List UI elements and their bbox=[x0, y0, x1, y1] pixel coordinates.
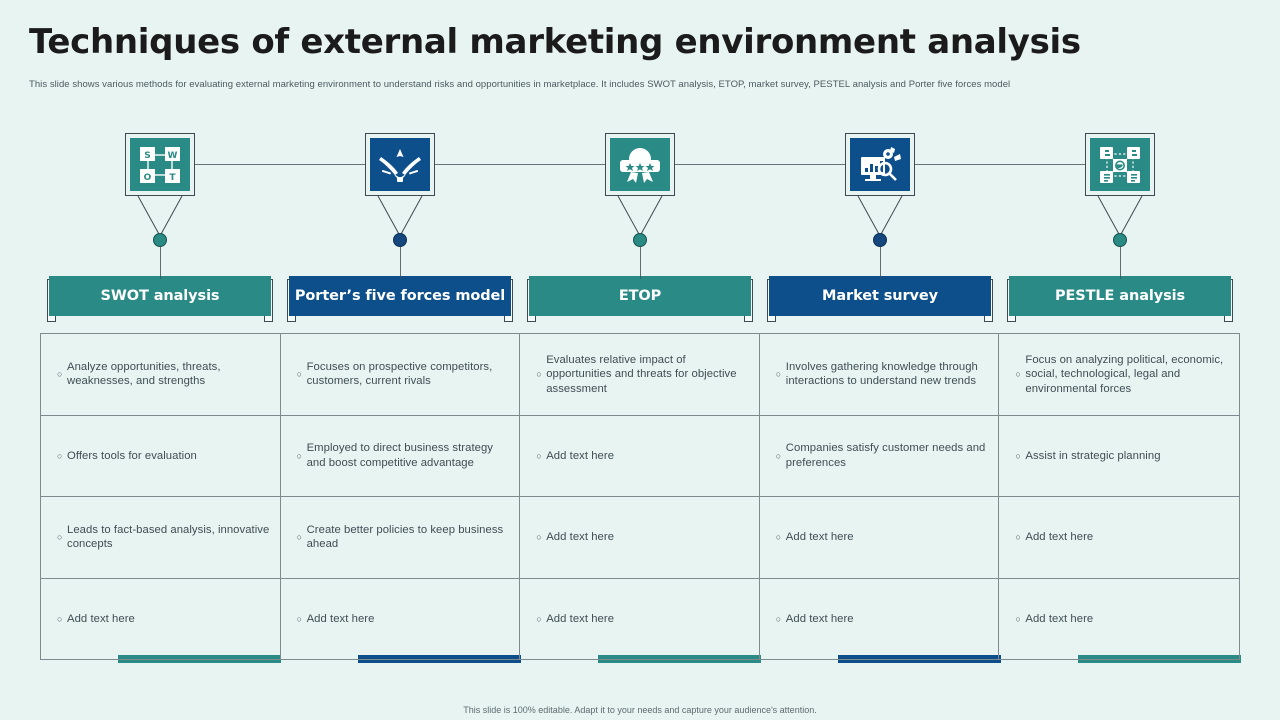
table-cell[interactable]: ○Analyze opportunities, threats, weaknes… bbox=[41, 334, 280, 416]
connector-stem bbox=[1120, 246, 1121, 279]
table-cell-text: Analyze opportunities, threats, weakness… bbox=[67, 360, 270, 389]
table-column-etop: ○Evaluates relative impact of opportunit… bbox=[520, 334, 760, 659]
table-cell-text: Assist in strategic planning bbox=[1025, 449, 1160, 464]
bullet-icon: ○ bbox=[536, 530, 546, 544]
header-bar-label: PESTLE analysis bbox=[1055, 288, 1185, 305]
table-cell[interactable]: ○Focuses on prospective competitors, cus… bbox=[281, 334, 520, 416]
svg-text:T: T bbox=[169, 173, 176, 183]
table-cell[interactable]: ○Add text here bbox=[520, 579, 759, 660]
bullet-icon: ○ bbox=[297, 367, 307, 381]
bullet-icon: ○ bbox=[57, 367, 67, 381]
connector-node-dot bbox=[873, 233, 887, 247]
header-bar-label: Porter’s five forces model bbox=[295, 288, 505, 305]
table-cell-text: Focuses on prospective competitors, cust… bbox=[307, 360, 510, 389]
table-column-market-survey: ○Involves gathering knowledge through in… bbox=[760, 334, 1000, 659]
table-cell[interactable]: ○Companies satisfy customer needs and pr… bbox=[760, 416, 999, 498]
table-cell[interactable]: ○Create better policies to keep business… bbox=[281, 497, 520, 579]
table-cell[interactable]: ○Add text here bbox=[999, 579, 1239, 660]
icon-frame-etop bbox=[605, 133, 675, 196]
svg-text:O: O bbox=[144, 173, 152, 183]
table-cell[interactable]: ○Add text here bbox=[281, 579, 520, 660]
connector-node-dot bbox=[153, 233, 167, 247]
bullet-icon: ○ bbox=[297, 449, 307, 463]
icon-frame-swot: S W O T bbox=[125, 133, 195, 196]
table-cell[interactable]: ○Offers tools for evaluation bbox=[41, 416, 280, 498]
icon-frame-market-survey bbox=[845, 133, 915, 196]
table-cell[interactable]: ○Employed to direct business strategy an… bbox=[281, 416, 520, 498]
award-badge-icon bbox=[610, 138, 670, 191]
connector-stem bbox=[160, 246, 161, 279]
table-cell-text: Add text here bbox=[786, 612, 854, 627]
table-cell[interactable]: ○Add text here bbox=[999, 497, 1239, 579]
connector-node-dot bbox=[1113, 233, 1127, 247]
bullet-icon: ○ bbox=[776, 367, 786, 381]
table-cell-text: Create better policies to keep business … bbox=[307, 523, 510, 552]
techniques-table: ○Analyze opportunities, threats, weaknes… bbox=[40, 333, 1240, 660]
bullet-icon: ○ bbox=[776, 530, 786, 544]
table-cell[interactable]: ○Add text here bbox=[760, 497, 999, 579]
table-cell-text: Add text here bbox=[1025, 530, 1093, 545]
table-cell[interactable]: ○Evaluates relative impact of opportunit… bbox=[520, 334, 759, 416]
icon-frame-porter bbox=[365, 133, 435, 196]
header-bar-etop[interactable]: ETOP bbox=[520, 276, 760, 318]
bullet-icon: ○ bbox=[57, 530, 67, 544]
bullet-icon: ○ bbox=[536, 449, 546, 463]
svg-text:S: S bbox=[144, 151, 150, 161]
table-column-pestle-analysis: ○Focus on analyzing political, economic,… bbox=[999, 334, 1239, 659]
connector-stem bbox=[400, 246, 401, 279]
connector-stem bbox=[640, 246, 641, 279]
connector-node-dot bbox=[393, 233, 407, 247]
connector-stem bbox=[880, 246, 881, 279]
bullet-icon: ○ bbox=[297, 530, 307, 544]
table-cell-text: Add text here bbox=[67, 612, 135, 627]
bullet-icon: ○ bbox=[1015, 530, 1025, 544]
table-cell-text: Add text here bbox=[546, 612, 614, 627]
table-cell[interactable]: ○Add text here bbox=[41, 579, 280, 660]
table-cell-text: Offers tools for evaluation bbox=[67, 449, 197, 464]
connector-node-dot bbox=[633, 233, 647, 247]
table-cell-text: Involves gathering knowledge through int… bbox=[786, 360, 989, 389]
bullet-icon: ○ bbox=[776, 612, 786, 626]
table-cell[interactable]: ○Focus on analyzing political, economic,… bbox=[999, 334, 1239, 416]
table-cell[interactable]: ○Add text here bbox=[520, 497, 759, 579]
header-bar-market-survey[interactable]: Market survey bbox=[760, 276, 1000, 318]
table-cell-text: Employed to direct business strategy and… bbox=[307, 441, 510, 470]
table-cell-text: Companies satisfy customer needs and pre… bbox=[786, 441, 989, 470]
header-bar-label: ETOP bbox=[619, 288, 661, 305]
table-column-porters-five-forces-model: ○Focuses on prospective competitors, cus… bbox=[281, 334, 521, 659]
bullet-icon: ○ bbox=[776, 449, 786, 463]
table-cell[interactable]: ○Involves gathering knowledge through in… bbox=[760, 334, 999, 416]
bullet-icon: ○ bbox=[1015, 367, 1025, 381]
crossed-swords-icon bbox=[370, 138, 430, 191]
table-cell-text: Focus on analyzing political, economic, … bbox=[1025, 353, 1229, 397]
header-bar-porters-five-forces-model[interactable]: Porter’s five forces model bbox=[280, 276, 520, 318]
table-column-swot-analysis: ○Analyze opportunities, threats, weaknes… bbox=[41, 334, 281, 659]
table-cell[interactable]: ○Leads to fact-based analysis, innovativ… bbox=[41, 497, 280, 579]
bullet-icon: ○ bbox=[297, 612, 307, 626]
bullet-icon: ○ bbox=[1015, 612, 1025, 626]
table-cell-text: Add text here bbox=[307, 612, 375, 627]
bullet-icon: ○ bbox=[57, 449, 67, 463]
table-cell[interactable]: ○Add text here bbox=[760, 579, 999, 660]
bullet-icon: ○ bbox=[536, 612, 546, 626]
bullet-icon: ○ bbox=[536, 367, 546, 381]
table-cell-text: Evaluates relative impact of opportuniti… bbox=[546, 353, 749, 397]
global-network-icon bbox=[1090, 138, 1150, 191]
bullet-icon: ○ bbox=[1015, 449, 1025, 463]
table-cell-text: Add text here bbox=[1025, 612, 1093, 627]
header-bar-label: Market survey bbox=[822, 288, 938, 305]
header-bar-swot-analysis[interactable]: SWOT analysis bbox=[40, 276, 280, 318]
table-cell-text: Add text here bbox=[546, 530, 614, 545]
bullet-icon: ○ bbox=[57, 612, 67, 626]
market-research-icon bbox=[850, 138, 910, 191]
header-bar-pestle-analysis[interactable]: PESTLE analysis bbox=[1000, 276, 1240, 318]
icon-frame-pestle bbox=[1085, 133, 1155, 196]
table-cell[interactable]: ○Add text here bbox=[520, 416, 759, 498]
slide-footer-note: This slide is 100% editable. Adapt it to… bbox=[0, 705, 1280, 715]
svg-text:W: W bbox=[168, 151, 178, 161]
table-cell-text: Leads to fact-based analysis, innovative… bbox=[67, 523, 270, 552]
table-cell[interactable]: ○Assist in strategic planning bbox=[999, 416, 1239, 498]
table-cell-text: Add text here bbox=[546, 449, 614, 464]
header-bar-label: SWOT analysis bbox=[101, 288, 220, 305]
table-cell-text: Add text here bbox=[786, 530, 854, 545]
swot-grid-icon: S W O T bbox=[130, 138, 190, 191]
